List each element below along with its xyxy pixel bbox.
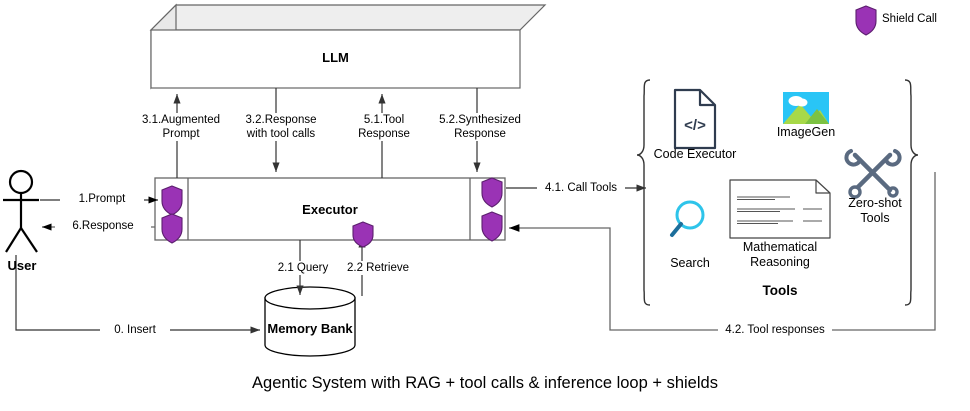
edge-label-response: 6.Response bbox=[55, 219, 151, 233]
llm-label: LLM bbox=[151, 50, 520, 65]
edge-insert bbox=[16, 255, 260, 330]
edge-label-response-with-tool-calls: 3.2.Response with tool calls bbox=[230, 113, 332, 141]
diagram-caption: Agentic System with RAG + tool calls & i… bbox=[0, 374, 970, 393]
edge-label-insert: 0. Insert bbox=[100, 323, 170, 337]
legend-label: Shield Call bbox=[882, 13, 937, 25]
tool-caption-zero-shot-tools: Zero-shot Tools bbox=[837, 196, 913, 226]
edge-label-retrieve: 2.2 Retrieve bbox=[336, 261, 420, 275]
tool-caption-code-executor: Code Executor bbox=[645, 147, 745, 162]
user-actor bbox=[3, 171, 39, 252]
shield-icon-executor-center bbox=[353, 222, 373, 247]
tool-caption-imagegen: ImageGen bbox=[761, 125, 851, 140]
svg-text:</>: </> bbox=[684, 117, 706, 134]
shield-icon-legend bbox=[856, 6, 876, 35]
edge-label-query: 2.1 Query bbox=[266, 261, 340, 275]
memory-bank-label: Memory Bank bbox=[255, 321, 365, 336]
formula-document-icon bbox=[730, 180, 830, 238]
edge-label-tool-responses: 4.2. Tool responses bbox=[718, 323, 832, 337]
crossed-tools-icon bbox=[846, 151, 899, 197]
executor-label: Executor bbox=[190, 202, 470, 217]
edge-label-prompt: 1.Prompt bbox=[60, 192, 144, 206]
tool-caption-mathematical-reasoning: Mathematical Reasoning bbox=[730, 240, 830, 270]
diagram-canvas: </> bbox=[0, 0, 970, 411]
image-icon bbox=[783, 92, 829, 124]
code-document-icon: </> bbox=[675, 90, 715, 148]
llm-node bbox=[151, 5, 545, 88]
tools-group-label: Tools bbox=[700, 283, 860, 298]
edge-label-tool-response: 5.1.Tool Response bbox=[340, 113, 428, 141]
tool-caption-search: Search bbox=[655, 256, 725, 271]
edge-label-augmented-prompt: 3.1.Augmented Prompt bbox=[133, 113, 229, 141]
user-label: User bbox=[0, 258, 44, 273]
edge-label-synthesized-response: 5.2.Synthesized Response bbox=[428, 113, 532, 141]
magnifier-icon bbox=[672, 202, 703, 235]
edge-label-call-tools: 4.1. Call Tools bbox=[537, 181, 625, 195]
